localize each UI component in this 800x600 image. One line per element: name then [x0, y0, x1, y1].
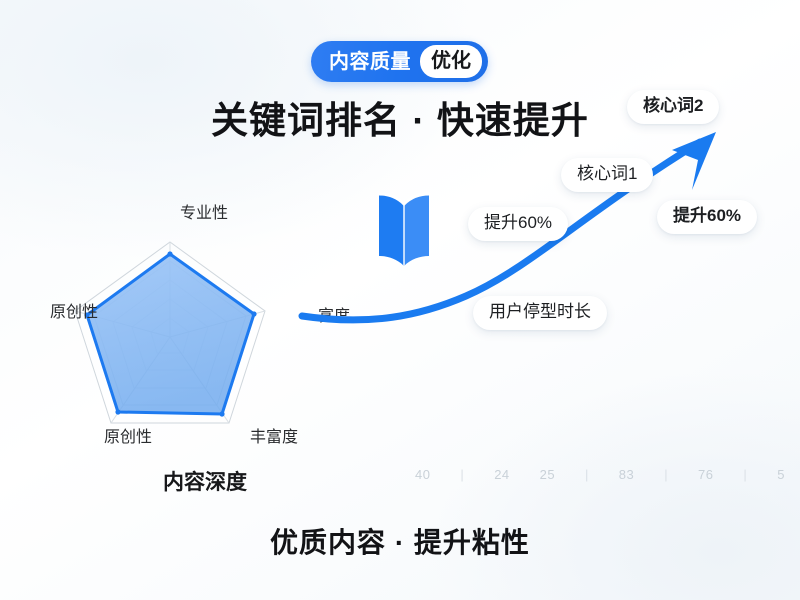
radar-label-left: 原创性 [50, 298, 98, 322]
pill-keyword-2[interactable]: 核心词2 [627, 90, 719, 124]
radar-label-bottom-left: 原创性 [104, 423, 152, 447]
axis-tick-2: 24 [494, 468, 509, 481]
axis-tick-6: | [664, 468, 668, 481]
axis-tick-5: 83 [619, 468, 634, 481]
radar-label-top: 专业性 [180, 199, 228, 223]
axis-tick-3: 25 [540, 468, 555, 481]
caption-footer: 优质内容 · 提升粘性 [0, 521, 800, 561]
axis-tick-7: 76 [698, 468, 713, 481]
pill-dwell-time[interactable]: 用户停型时长 [473, 296, 607, 330]
axis-tick-4: | [585, 468, 589, 481]
axis-tick-row: 40 | 24 25 | 83 | 76 | 5 [415, 463, 785, 485]
caption-content-depth: 内容深度 [163, 466, 247, 496]
pill-keyword-1[interactable]: 核心词1 [561, 158, 653, 192]
axis-tick-1: | [460, 468, 464, 481]
axis-tick-9: 5 [777, 468, 785, 481]
open-book-icon [373, 186, 435, 268]
poster-canvas: 内容质量 优化 关键词排名 · 快速提升 [0, 0, 800, 600]
radar-label-bottom-right: 丰富度 [250, 423, 298, 447]
pill-uplift-left[interactable]: 提升60% [468, 207, 568, 241]
axis-tick-8: | [743, 468, 747, 481]
badge-sub-label: 优化 [420, 45, 482, 78]
content-quality-badge[interactable]: 内容质量 优化 [311, 41, 488, 82]
radar-series-content-quality [84, 251, 256, 416]
pill-uplift-right[interactable]: 提升60% [657, 200, 757, 234]
badge-main-label: 内容质量 [329, 52, 420, 72]
axis-tick-0: 40 [415, 468, 430, 481]
